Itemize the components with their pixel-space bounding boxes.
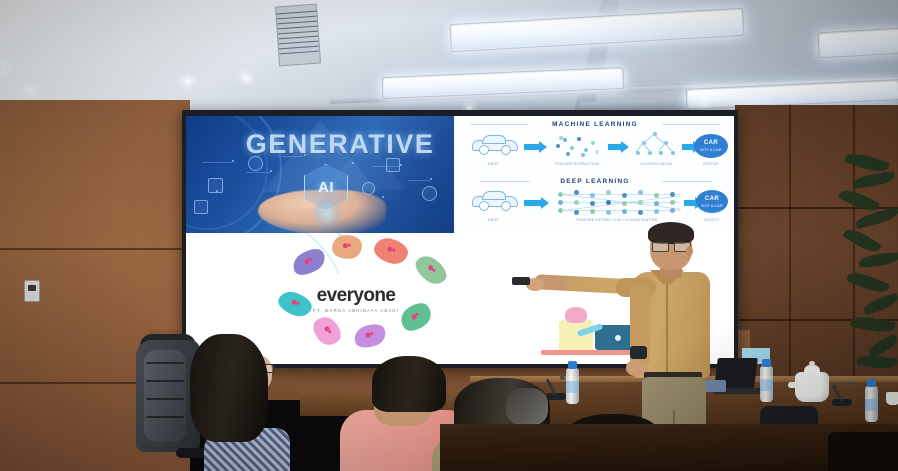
smartwatch [630, 346, 647, 359]
car-illustration [472, 138, 516, 155]
slide-ml-dl-diagram: MACHINE LEARNING INPUT FEATURE EXTRACTIO… [456, 116, 734, 233]
foreground-object [828, 432, 898, 471]
ai-hexagon-icon: AI [304, 164, 348, 210]
node-icon [422, 186, 437, 201]
neural-network-graphic [556, 188, 678, 216]
everyone-tagline: PT. MARGA ABHINAYA ABADI [286, 308, 426, 313]
teapot[interactable] [795, 372, 829, 402]
step-caption: FEATURE EXTRACTION [544, 162, 610, 166]
presenter-ear [686, 246, 693, 256]
wall-seam [735, 319, 898, 321]
ceiling-downlight [242, 75, 250, 81]
presenter-hair [648, 222, 694, 244]
step-caption: OUTPUT [694, 162, 728, 166]
flow-arrow [524, 200, 542, 206]
ceiling-downlight [183, 78, 192, 84]
wall-seam [735, 207, 898, 209]
step-caption: INPUT [470, 162, 518, 166]
hand-graphic [372, 235, 411, 267]
ceiling-downlight [25, 87, 34, 93]
step-caption: OUTPUT [696, 218, 728, 222]
node-icon [386, 158, 400, 172]
step-caption: CLASSIFICATION [628, 162, 684, 166]
cup[interactable] [886, 392, 898, 405]
presentation-clicker[interactable] [512, 277, 530, 285]
result-label: CAR [704, 140, 718, 146]
result-sublabel: NOT A CAR [700, 147, 721, 152]
slide-title-generative: GENERATIVE [230, 129, 450, 160]
flow-arrow [524, 144, 540, 150]
light-switch[interactable] [24, 280, 40, 302]
node-icon [208, 178, 223, 193]
result-sublabel: NOT A CAR [701, 203, 722, 208]
everyone-wordmark: everyone [286, 285, 426, 307]
node-icon [194, 200, 208, 214]
eyeglasses [652, 242, 690, 250]
result-oval-car: CAR NOT A CAR [694, 134, 728, 158]
conference-room-photo: GENERATIVE AI MACHINE LEARNING INPUT [0, 0, 898, 471]
decision-tree-graphic [634, 132, 676, 158]
flow-arrow [682, 144, 694, 150]
microphone[interactable] [832, 378, 854, 406]
wall-seam-vertical [789, 105, 791, 405]
shirt-placket [666, 276, 668, 372]
wall-seam [0, 248, 190, 250]
air-vent [275, 4, 321, 67]
flow-arrow [684, 200, 696, 206]
hand-graphic [411, 251, 451, 289]
slide-generative-ai: GENERATIVE AI [186, 116, 454, 233]
ceiling-downlight [700, 100, 707, 105]
water-bottle[interactable] [865, 386, 878, 422]
feature-extraction-graphic [554, 134, 600, 158]
step-caption: INPUT [470, 218, 518, 222]
ceiling-light-panel [819, 30, 898, 56]
water-bottle[interactable] [760, 366, 773, 402]
result-oval-car: CAR NOT A CAR [696, 190, 728, 213]
attendee-woman-seated [186, 334, 294, 471]
ceiling-downlight [0, 66, 8, 72]
wall-seam-vertical [853, 105, 855, 405]
result-label: CAR [705, 196, 719, 202]
ai-badge-label: AI [304, 164, 348, 210]
flow-arrow [608, 144, 622, 150]
car-illustration [472, 194, 516, 211]
everyone-logo: everyone PT. MARGA ABHINAYA ABADI [286, 285, 426, 313]
